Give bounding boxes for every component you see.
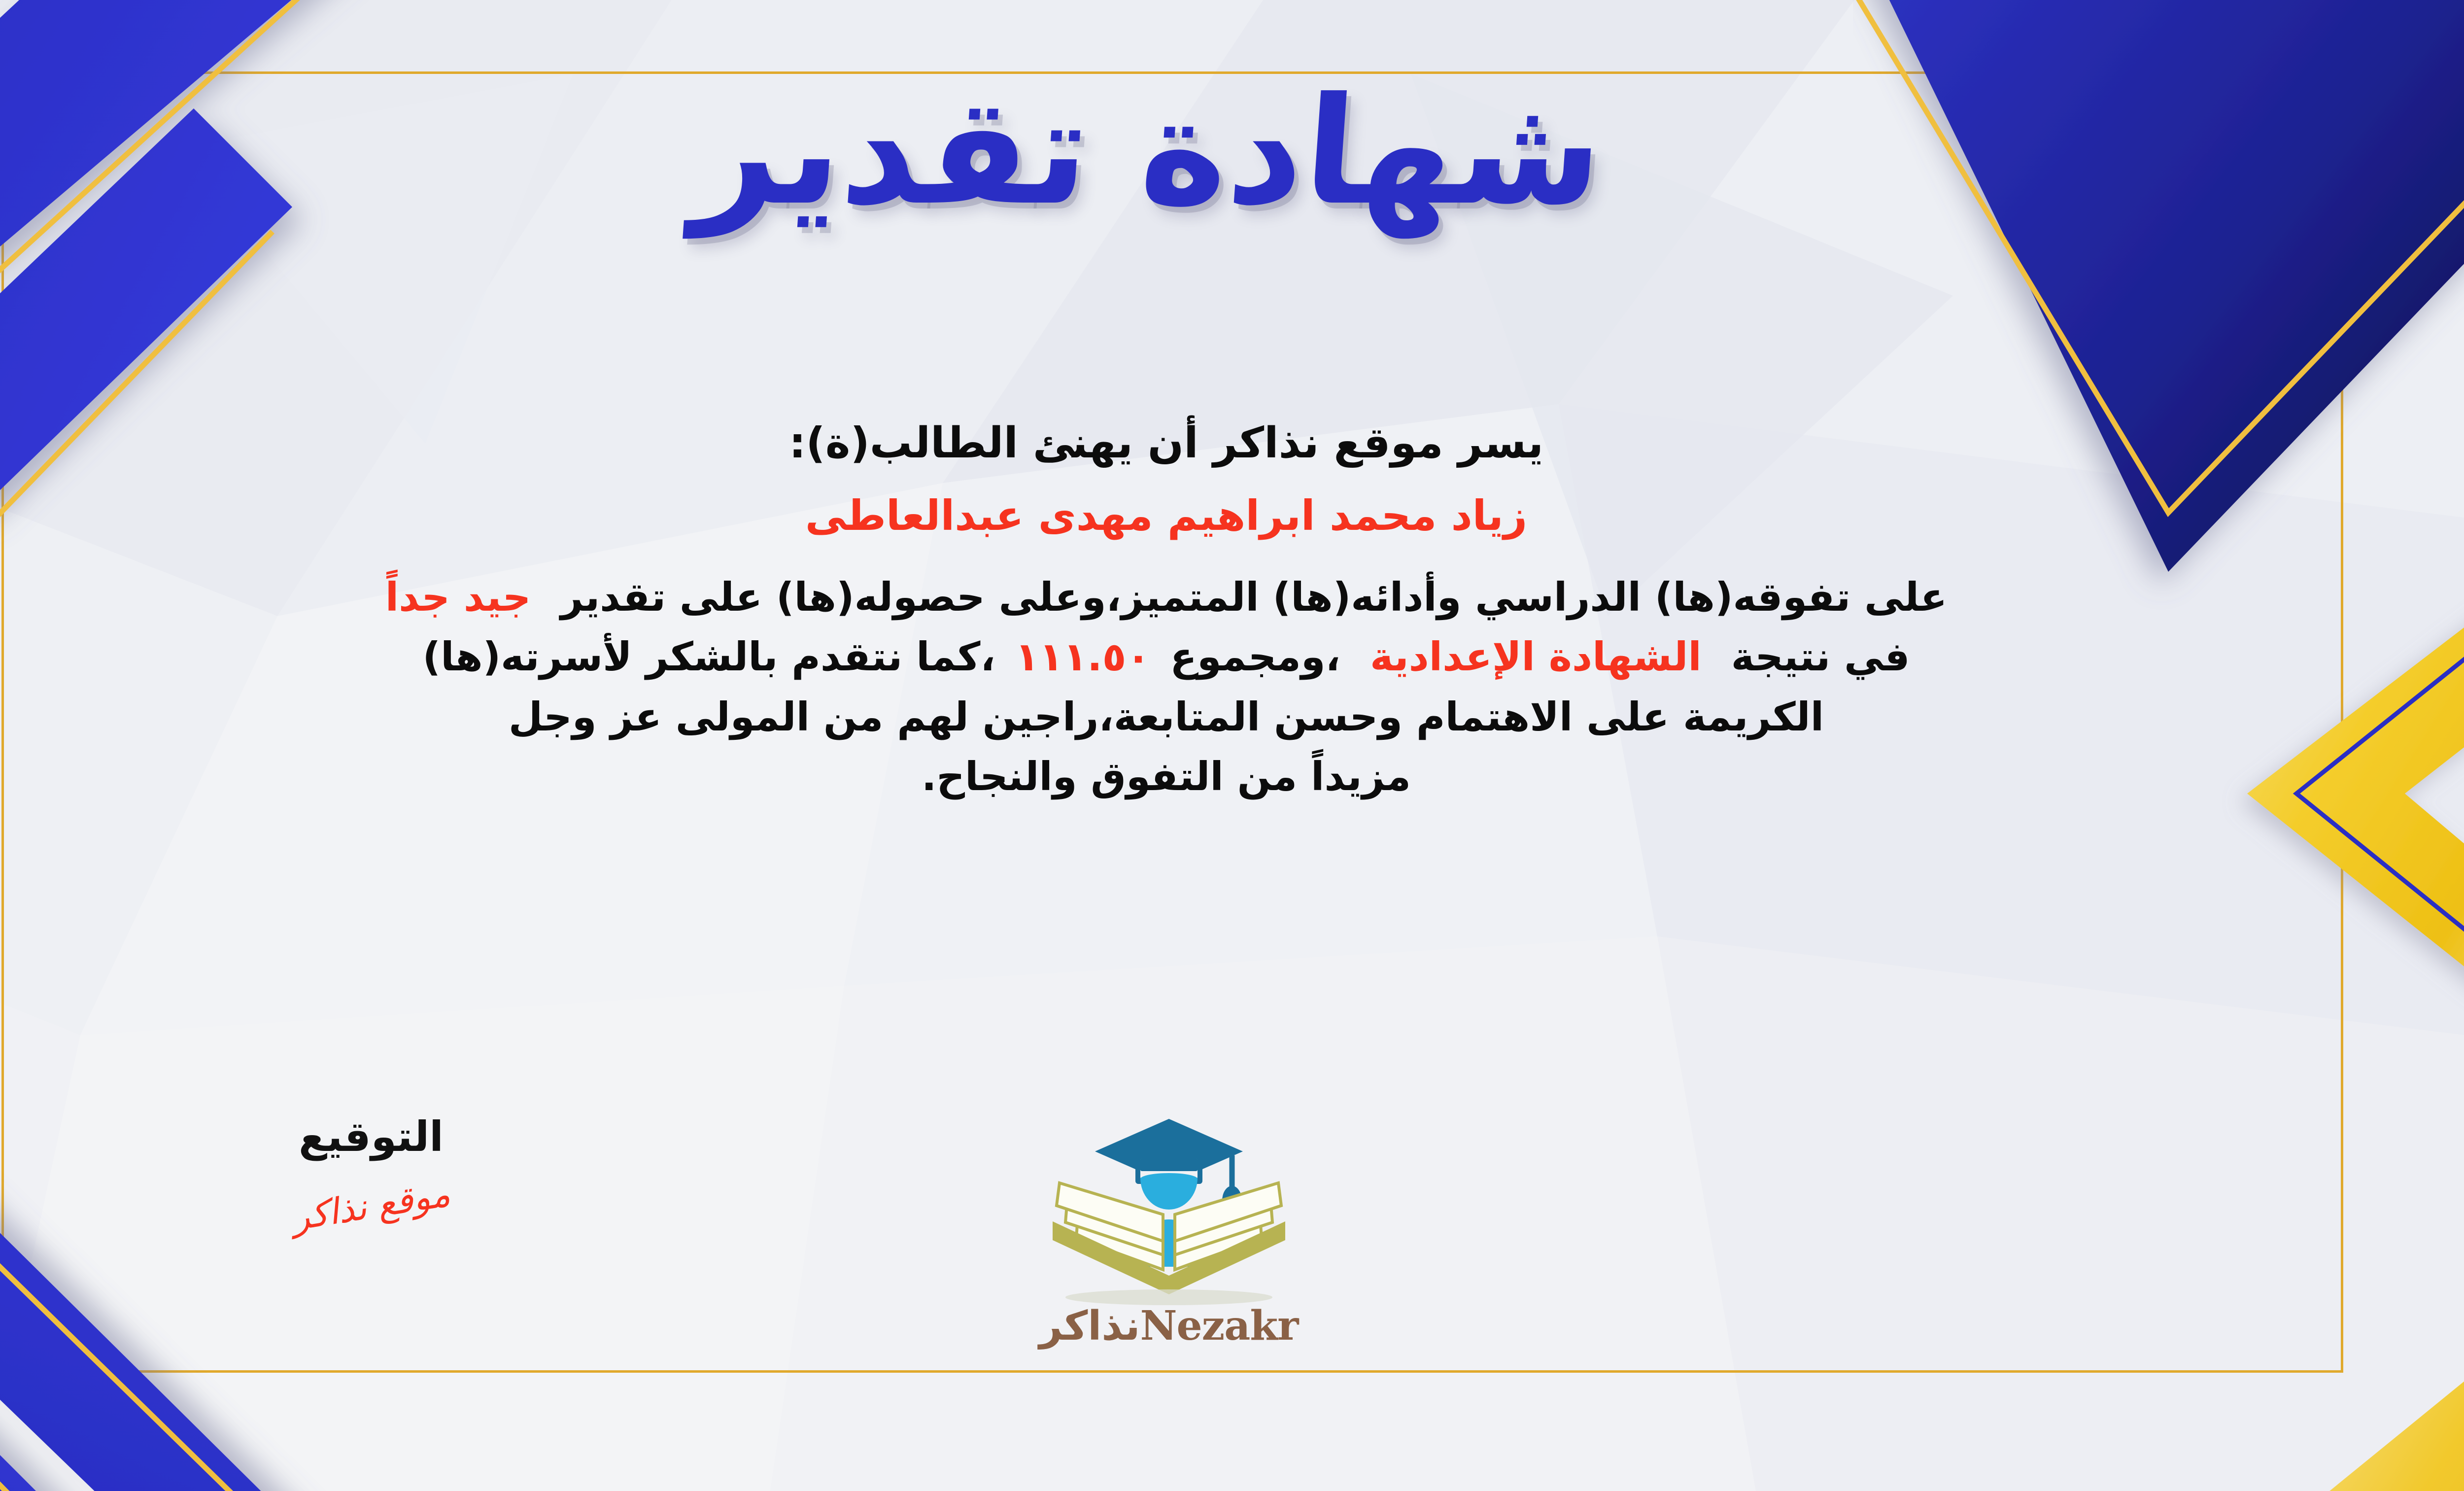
student-name: زياد محمد ابراهيم مهدى عبدالعاطى bbox=[0, 487, 2336, 545]
congratulation-intro-line: يسر موقع نذاكر أن يهنئ الطالب(ة): bbox=[0, 414, 2336, 473]
signature-label: التوقيع bbox=[213, 1114, 529, 1159]
certificate-page: شهادة تقدير يسر موقع نذاكر أن يهنئ الطال… bbox=[0, 0, 2464, 1491]
signature-mark: موقع نذاكر bbox=[289, 1173, 453, 1239]
thanks-text-part2: الكريمة على الاهتمام وحسن المتابعة،راجين… bbox=[509, 694, 1824, 740]
result-text-part1: في نتيجة bbox=[1731, 634, 1910, 680]
achievement-text-part1: على تفوقه(ها) الدراسي وأدائه(ها) المتميز… bbox=[560, 574, 1947, 620]
graduate-over-open-book-icon bbox=[1031, 1104, 1307, 1311]
exam-name: الشهادة الإعدادية bbox=[1370, 634, 1702, 680]
certificate-footer: التوقيع موقع نذاكر bbox=[1, 1114, 2336, 1420]
closing-wish: مزيداً من التفوق والنجاح. bbox=[922, 754, 1411, 799]
thanks-text-part1: ،كما نتقدم بالشكر لأسرته(ها) bbox=[423, 634, 995, 680]
page-title: شهادة تقدير bbox=[689, 74, 1608, 229]
total-label: ،ومجموع bbox=[1170, 634, 1340, 680]
total-score: ١١١.٥٠ bbox=[1015, 634, 1151, 680]
certificate-title-block: شهادة تقدير bbox=[0, 74, 2464, 229]
grade-value: جيد جداً bbox=[385, 574, 531, 620]
logo-wordmark: Nezakrنذاكر bbox=[967, 1302, 1371, 1350]
site-logo: Nezakrنذاكر bbox=[967, 1104, 1371, 1350]
logo-name-latin: Nezakr bbox=[1140, 1302, 1299, 1350]
signature-block: التوقيع موقع نذاكر bbox=[213, 1114, 529, 1226]
achievement-paragraph: على تفوقه(ها) الدراسي وأدائه(ها) المتميز… bbox=[0, 567, 2336, 807]
certificate-body: يسر موقع نذاكر أن يهنئ الطالب(ة): زياد م… bbox=[0, 414, 2336, 807]
logo-name-arabic: نذاكر bbox=[1039, 1303, 1140, 1350]
